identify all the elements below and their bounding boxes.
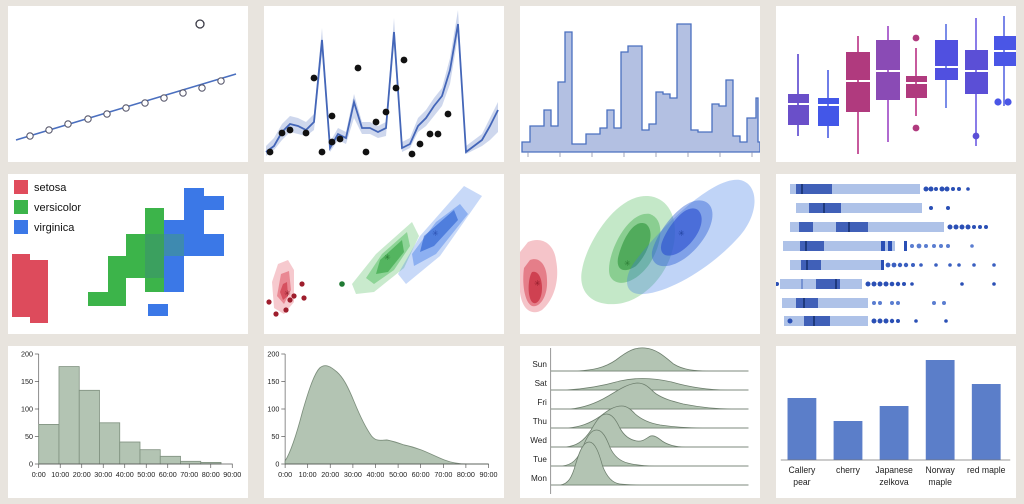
svg-text:50:00: 50:00 <box>137 470 155 479</box>
y-axis <box>281 354 285 464</box>
outlier-point <box>196 20 204 28</box>
y-tick-labels: 0 50 100 150 200 <box>267 349 279 468</box>
setosa-centroid: ✳ <box>534 279 541 288</box>
gallery-cell-contour[interactable]: ✳ ✳ ✳ <box>256 168 512 340</box>
density-area <box>285 366 489 464</box>
gallery-cell-tree-bar[interactable]: Callery pear cherry Japanese zelkova Nor… <box>768 340 1024 504</box>
virginica-centroid: ✳ <box>432 229 439 238</box>
svg-text:10:00: 10:00 <box>299 470 317 479</box>
setosa-contour <box>272 260 294 314</box>
svg-text:30:00: 30:00 <box>344 470 362 479</box>
strip-boxplot-chart <box>776 174 1016 334</box>
gallery-cell-boxplot[interactable] <box>768 0 1024 168</box>
svg-text:0:00: 0:00 <box>32 470 46 479</box>
species-legend[interactable]: setosa versicolor virginica <box>14 180 81 234</box>
smooth-density-chart: ✳ ✳ ✳ <box>520 174 760 334</box>
svg-text:100: 100 <box>267 404 279 413</box>
svg-text:30:00: 30:00 <box>94 470 112 479</box>
box-2 <box>818 70 839 138</box>
histogram-chart: 0 50 100 150 200 <box>8 346 248 498</box>
bar-label-norway-line2: maple <box>928 477 952 487</box>
svg-text:20:00: 20:00 <box>73 470 91 479</box>
step-area-chart <box>520 6 760 162</box>
line-band-chart <box>264 6 504 162</box>
svg-text:80:00: 80:00 <box>457 470 475 479</box>
svg-text:40:00: 40:00 <box>366 470 384 479</box>
svg-text:10:00: 10:00 <box>51 470 69 479</box>
strip-row <box>782 298 946 308</box>
svg-text:20:00: 20:00 <box>321 470 339 479</box>
density-area-panel[interactable]: 0 50 100 150 200 <box>264 346 504 498</box>
box-4 <box>876 26 900 142</box>
smooth-density-panel[interactable]: ✳ ✳ ✳ <box>520 174 760 334</box>
box-1 <box>788 54 809 136</box>
histogram-bars <box>39 367 221 464</box>
gallery-cell-density-area[interactable]: 0 50 100 150 200 <box>256 340 512 504</box>
svg-text:Sun: Sun <box>532 359 547 369</box>
box-8 <box>994 16 1016 106</box>
svg-text:150: 150 <box>267 377 279 386</box>
svg-text:Mon: Mon <box>531 473 547 483</box>
step-area-panel[interactable] <box>520 6 760 162</box>
svg-text:0: 0 <box>29 459 33 468</box>
svg-text:Thu: Thu <box>533 416 547 426</box>
x-tick-labels: 0:00 10:00 20:00 30:00 40:00 50:00 60:00… <box>32 470 242 479</box>
bar-label-callery-pear-line2: pear <box>793 477 810 487</box>
box-7 <box>965 18 988 146</box>
strip-boxplot-panel[interactable] <box>776 174 1016 334</box>
svg-text:0: 0 <box>275 459 279 468</box>
ridgeline-chart: Sun Sat Fri Thu Wed Tue Mon <box>520 346 760 498</box>
svg-text:80:00: 80:00 <box>202 470 220 479</box>
ridgeline-category-labels: Sun Sat Fri Thu Wed Tue Mon <box>530 359 547 483</box>
bar-category-labels: Callery pear cherry Japanese zelkova Nor… <box>788 465 1005 487</box>
svg-text:40:00: 40:00 <box>116 470 134 479</box>
histogram-panel[interactable]: 0 50 100 150 200 <box>8 346 248 498</box>
svg-text:50: 50 <box>271 432 279 441</box>
svg-text:70:00: 70:00 <box>434 470 452 479</box>
svg-text:90:00: 90:00 <box>480 470 498 479</box>
bar-label-japanese-line1: Japanese <box>875 465 913 475</box>
box-3 <box>846 36 870 154</box>
gallery-cell-histogram[interactable]: 0 50 100 150 200 <box>0 340 256 504</box>
ridgeline-areas <box>551 348 749 485</box>
strip-row <box>796 203 950 213</box>
svg-text:60:00: 60:00 <box>412 470 430 479</box>
strip-row <box>783 241 974 251</box>
strip-row <box>784 316 948 326</box>
virginica-centroid: ✳ <box>678 229 685 238</box>
legend-label-versicolor: versicolor <box>34 202 81 214</box>
data-points <box>267 57 452 158</box>
box-5 <box>906 35 927 132</box>
x-ticks <box>285 464 488 468</box>
contour-density-chart: ✳ ✳ ✳ <box>264 174 504 334</box>
tree-species-bar-panel[interactable]: Callery pear cherry Japanese zelkova Nor… <box>776 346 1016 498</box>
y-tick-labels: 0 50 100 150 200 <box>21 349 33 468</box>
strip-row <box>790 222 988 232</box>
svg-text:50:00: 50:00 <box>389 470 407 479</box>
bar-label-japanese-line2: zelkova <box>879 477 908 487</box>
gallery-cell-scatter[interactable] <box>0 0 256 168</box>
bars <box>788 360 1001 460</box>
strip-row <box>776 279 996 289</box>
svg-text:0:00: 0:00 <box>278 470 292 479</box>
svg-text:90:00: 90:00 <box>223 470 241 479</box>
legend-label-setosa: setosa <box>34 182 67 194</box>
x-tick-labels: 0:00 10:00 20:00 30:00 40:00 50:00 60:00… <box>278 470 497 479</box>
tree-species-bar-chart: Callery pear cherry Japanese zelkova Nor… <box>776 346 1016 498</box>
gallery-cell-strip-box[interactable] <box>768 168 1024 340</box>
bar-label-callery-pear-line1: Callery <box>788 465 815 475</box>
line-band-panel[interactable] <box>264 6 504 162</box>
strip-row <box>790 184 970 194</box>
legend-swatch-virginica <box>14 220 28 234</box>
legend-swatch-setosa <box>14 180 28 194</box>
binned-heatmap-iris-panel[interactable]: setosa versicolor virginica <box>8 174 248 334</box>
contour-density-panel[interactable]: ✳ ✳ ✳ <box>264 174 504 334</box>
x-ticks <box>39 464 233 468</box>
binned-heatmap-chart: setosa versicolor virginica <box>8 174 248 334</box>
bar-label-cherry: cherry <box>836 465 861 475</box>
gallery-cell-line-band[interactable] <box>256 0 512 168</box>
setosa-centroid: ✳ <box>284 289 291 298</box>
svg-text:Sat: Sat <box>535 378 548 388</box>
versicolor-point <box>339 281 345 287</box>
svg-text:200: 200 <box>267 349 279 358</box>
box-6 <box>935 24 958 108</box>
ridgeline-panel[interactable]: Sun Sat Fri Thu Wed Tue Mon <box>520 346 760 498</box>
chart-gallery: setosa versicolor virginica <box>0 0 1024 504</box>
gallery-cell-smooth-density[interactable]: ✳ ✳ ✳ <box>512 168 768 340</box>
strip-row <box>790 260 996 270</box>
gallery-cell-ridgeline[interactable]: Sun Sat Fri Thu Wed Tue Mon <box>512 340 768 504</box>
step-area <box>522 24 760 152</box>
boxplot-chart <box>776 6 1016 162</box>
gallery-cell-step-area[interactable] <box>512 0 768 168</box>
bar-label-red-maple: red maple <box>967 465 1005 475</box>
legend-label-virginica: virginica <box>34 222 75 234</box>
legend-swatch-versicolor <box>14 200 28 214</box>
axis-ticks <box>528 152 752 157</box>
svg-text:70:00: 70:00 <box>180 470 198 479</box>
setosa-density <box>520 240 557 312</box>
density-area-chart: 0 50 100 150 200 <box>264 346 504 498</box>
boxplot-panel[interactable] <box>776 6 1016 162</box>
versicolor-centroid: ✳ <box>624 259 631 268</box>
svg-text:50: 50 <box>25 432 33 441</box>
confidence-band <box>266 10 498 156</box>
svg-text:150: 150 <box>21 377 33 386</box>
y-axis <box>35 354 39 464</box>
svg-text:60:00: 60:00 <box>159 470 177 479</box>
svg-text:Fri: Fri <box>537 397 547 407</box>
svg-text:200: 200 <box>21 349 33 358</box>
svg-text:Wed: Wed <box>530 435 547 445</box>
gallery-cell-iris-heatmap[interactable]: setosa versicolor virginica <box>0 168 256 340</box>
versicolor-centroid: ✳ <box>384 253 391 262</box>
scatter-line-chart <box>8 6 248 162</box>
svg-text:Tue: Tue <box>533 454 547 464</box>
bar-label-norway-line1: Norway <box>926 465 956 475</box>
svg-text:100: 100 <box>21 404 33 413</box>
scatter-line-panel[interactable] <box>8 6 248 162</box>
